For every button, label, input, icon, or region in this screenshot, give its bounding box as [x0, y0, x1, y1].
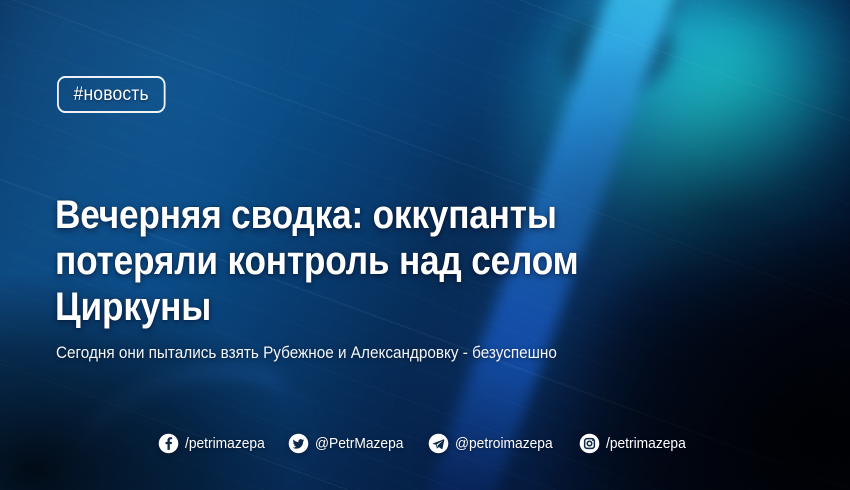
- category-badge[interactable]: #новость: [57, 76, 165, 113]
- facebook-icon: [158, 433, 179, 454]
- instagram-icon: [579, 433, 600, 454]
- social-handle-facebook: /petrimazepa: [185, 435, 265, 452]
- social-handle-telegram: @petroimazepa: [455, 435, 553, 452]
- social-link-facebook[interactable]: /petrimazepa: [158, 433, 272, 454]
- headline: Вечерняя сводка: оккупанты потеряли конт…: [55, 192, 724, 330]
- twitter-icon: [288, 433, 309, 454]
- card-content: #новость Вечерняя сводка: оккупанты поте…: [0, 0, 850, 490]
- subtitle: Сегодня они пытались взять Рубежное и Ал…: [56, 342, 722, 364]
- telegram-icon: [428, 433, 449, 454]
- social-link-twitter[interactable]: @PetrMazepa: [288, 433, 411, 454]
- social-handle-instagram: /petrimazepa: [606, 435, 686, 452]
- social-handle-twitter: @PetrMazepa: [315, 435, 403, 452]
- social-link-telegram[interactable]: @petroimazepa: [428, 433, 561, 454]
- social-link-instagram[interactable]: /petrimazepa: [579, 433, 693, 454]
- social-links: /petrimazepa @PetrMazepa @petroimazepa: [0, 433, 850, 454]
- news-card: #новость Вечерняя сводка: оккупанты поте…: [0, 0, 850, 490]
